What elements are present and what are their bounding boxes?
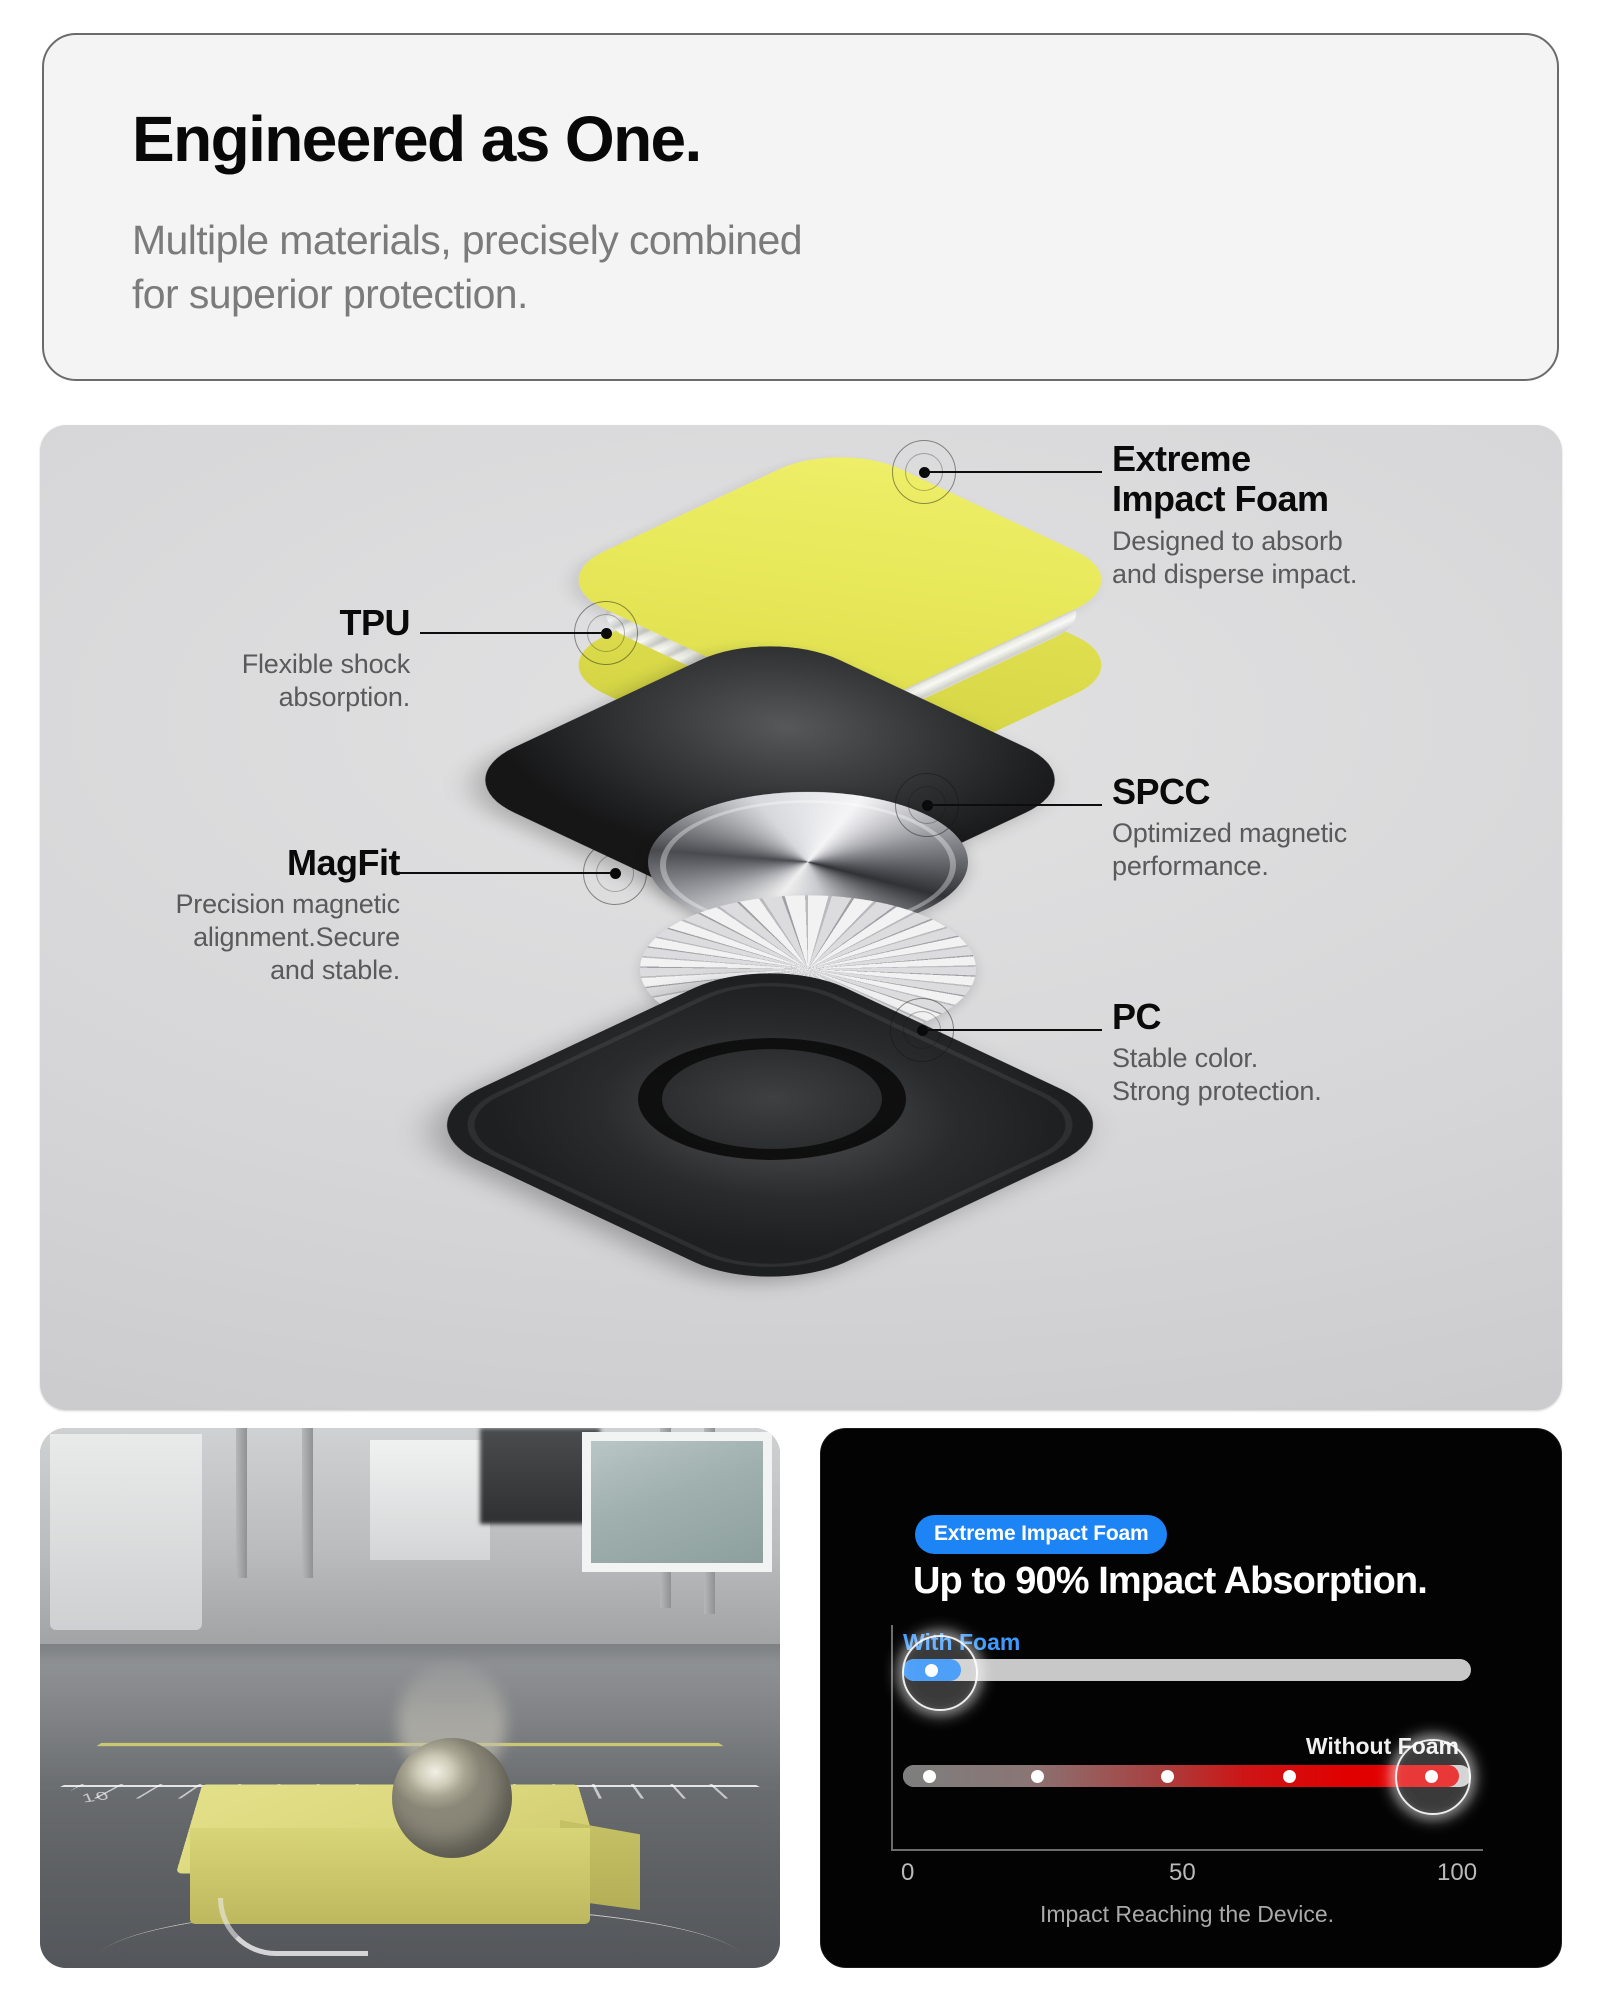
leader-line-pc: [922, 1029, 1102, 1031]
callout-extreme-impact-foam: Extreme Impact Foam Designed to absorb a…: [1112, 439, 1357, 591]
leader-line-tpu: [420, 632, 606, 634]
photo-support-post: [302, 1428, 313, 1578]
chart-xtick-0: 0: [901, 1859, 914, 1887]
exploded-diagram-card: Extreme Impact Foam Designed to absorb a…: [40, 425, 1562, 1410]
chart-bar-marker: [1031, 1770, 1044, 1783]
chart-headline: Up to 90% Impact Absorption.: [913, 1560, 1427, 1603]
callout-title: SPCC: [1112, 772, 1347, 812]
callout-title: MagFit: [60, 843, 400, 883]
page-title: Engineered as One.: [132, 107, 701, 171]
exploded-diagram-stage: Extreme Impact Foam Designed to absorb a…: [40, 425, 1562, 1410]
chart-plot-area: With Foam Without Foam: [891, 1625, 1503, 1915]
callout-description: Stable color. Strong protection.: [1112, 1042, 1322, 1108]
callout-desc-line-2: performance.: [1112, 850, 1347, 883]
photo-cabinet-left: [50, 1434, 202, 1630]
status-badge: Extreme Impact Foam: [915, 1515, 1167, 1554]
callout-description: Designed to absorb and disperse impact.: [1112, 525, 1357, 591]
chart-bar-marker: [1283, 1770, 1296, 1783]
callout-desc-line-2: alignment.Secure: [60, 921, 400, 954]
callout-title: Extreme Impact Foam: [1112, 439, 1357, 520]
callout-desc-line-1: Precision magnetic: [60, 888, 400, 921]
callout-title-line-1: Extreme: [1112, 439, 1357, 479]
callout-desc-line-1: Optimized magnetic: [1112, 817, 1347, 850]
callout-desc-line-3: and stable.: [60, 954, 400, 987]
photo-window: [582, 1432, 772, 1572]
callout-spcc: SPCC Optimized magnetic performance.: [1112, 772, 1347, 883]
chart-xtick-100: 100: [1437, 1859, 1477, 1887]
callout-desc-line-2: Strong protection.: [1112, 1075, 1322, 1108]
chart-bar-marker: [1161, 1770, 1174, 1783]
photo-window-glass: [591, 1441, 763, 1563]
callout-magfit: MagFit Precision magnetic alignment.Secu…: [60, 843, 400, 987]
callout-title-line-2: Impact Foam: [1112, 479, 1357, 519]
chart-bar-marker: [923, 1770, 936, 1783]
header-card: Engineered as One. Multiple materials, p…: [42, 33, 1559, 381]
callout-title: PC: [1112, 997, 1322, 1037]
callout-tpu: TPU Flexible shock absorption.: [100, 603, 410, 714]
callout-title-line-1: MagFit: [60, 843, 400, 883]
chart-x-axis-caption: Impact Reaching the Device.: [891, 1901, 1483, 1928]
callout-desc-line-1: Stable color.: [1112, 1042, 1322, 1075]
chart-bar-fill-without-foam: [903, 1765, 1459, 1787]
impact-absorption-chart-card: Extreme Impact Foam Up to 90% Impact Abs…: [820, 1428, 1562, 1968]
leader-line-extreme-impact-foam: [924, 471, 1102, 473]
callout-description: Flexible shock absorption.: [100, 648, 410, 714]
chart-highlight-ring-without-foam: [1395, 1739, 1471, 1815]
callout-pc: PC Stable color. Strong protection.: [1112, 997, 1322, 1108]
callout-title-line-1: SPCC: [1112, 772, 1347, 812]
page-subtitle: Multiple materials, precisely combined f…: [132, 213, 802, 321]
chart-x-axis: [891, 1849, 1483, 1851]
callout-desc-line-1: Flexible shock: [100, 648, 410, 681]
chart-xtick-50: 50: [1169, 1859, 1196, 1887]
photo-support-post: [236, 1428, 247, 1578]
chart-highlight-ring-with-foam: [902, 1635, 978, 1711]
page-subtitle-line-1: Multiple materials, precisely combined: [132, 213, 802, 267]
infographic-page: Engineered as One. Multiple materials, p…: [0, 0, 1600, 2000]
callout-desc-line-2: and disperse impact.: [1112, 558, 1357, 591]
photo-cabinet-center: [370, 1440, 490, 1560]
pc-coil-recess: [638, 1038, 906, 1160]
impact-test-photo: 10: [40, 1428, 780, 1968]
callout-description: Optimized magnetic performance.: [1112, 817, 1347, 883]
callout-desc-line-1: Designed to absorb: [1112, 525, 1357, 558]
photo-steel-impact-ball: [392, 1738, 512, 1858]
callout-title-line-1: TPU: [100, 603, 410, 643]
callout-title: TPU: [100, 603, 410, 643]
callout-desc-line-2: absorption.: [100, 681, 410, 714]
callout-title-line-1: PC: [1112, 997, 1322, 1037]
leader-line-spcc: [927, 804, 1102, 806]
leader-line-magfit: [400, 872, 615, 874]
callout-description: Precision magnetic alignment.Secure and …: [60, 888, 400, 987]
page-subtitle-line-2: for superior protection.: [132, 267, 802, 321]
